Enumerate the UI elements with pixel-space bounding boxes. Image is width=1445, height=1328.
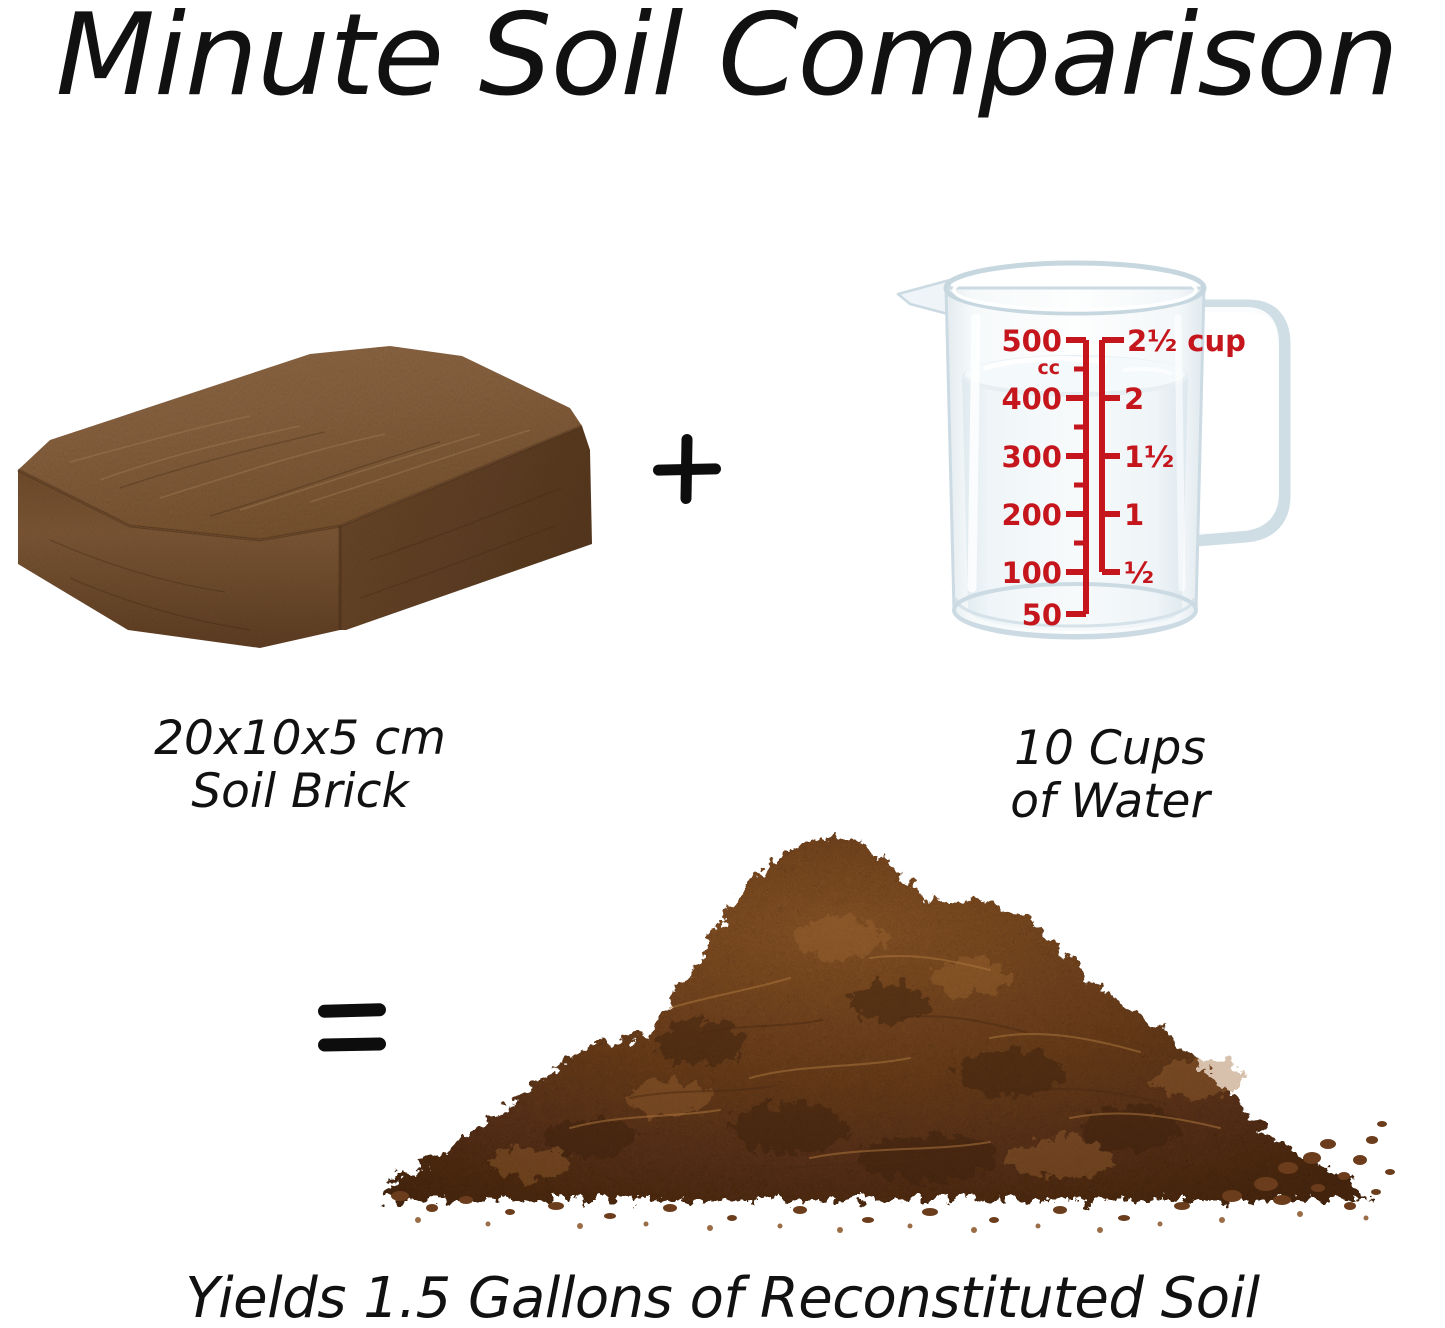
cup-label-one-and-half: 1½ [1124,440,1174,474]
yield-caption: Yields 1.5 Gallons of Reconstituted Soil [0,1268,1445,1328]
soil-brick-caption-line2: Soil Brick [40,766,560,819]
cup-label-half: ½ [1124,556,1154,590]
cup-label-two-and-half: 2½ cup [1127,324,1246,358]
water-caption-line1: 10 Cups [880,723,1340,776]
soil-pile-image [370,828,1400,1238]
cc-unit-label: cc [1037,357,1060,379]
cup-label-two: 2 [1124,382,1144,416]
cc-label-400: 400 [1001,382,1062,416]
soil-brick-image [10,330,610,665]
soil-pile-illustration [370,828,1400,1238]
plus-vertical-stroke [680,434,692,504]
measuring-cup-image: 500 400 300 200 100 50 cc 2½ cup 2 1½ 1 … [880,258,1310,658]
soil-brick-illustration [10,330,610,665]
cc-label-100: 100 [1001,556,1062,590]
cc-label-500: 500 [1001,324,1062,358]
measuring-cup-illustration: 500 400 300 200 100 50 cc 2½ cup 2 1½ 1 … [880,258,1310,658]
cc-label-50: 50 [1022,598,1062,632]
page-title: Minute Soil Comparison [0,0,1445,120]
cc-label-200: 200 [1001,498,1062,532]
water-caption: 10 Cups of Water [880,723,1340,828]
cup-label-one: 1 [1124,498,1144,532]
water-caption-line2: of Water [880,776,1340,829]
soil-brick-caption: 20x10x5 cm Soil Brick [40,713,560,818]
cc-label-300: 300 [1001,440,1062,474]
infographic-page: Minute Soil Comparison [0,0,1445,1328]
soil-brick-caption-line1: 20x10x5 cm [40,713,560,766]
plus-operator [650,432,724,506]
